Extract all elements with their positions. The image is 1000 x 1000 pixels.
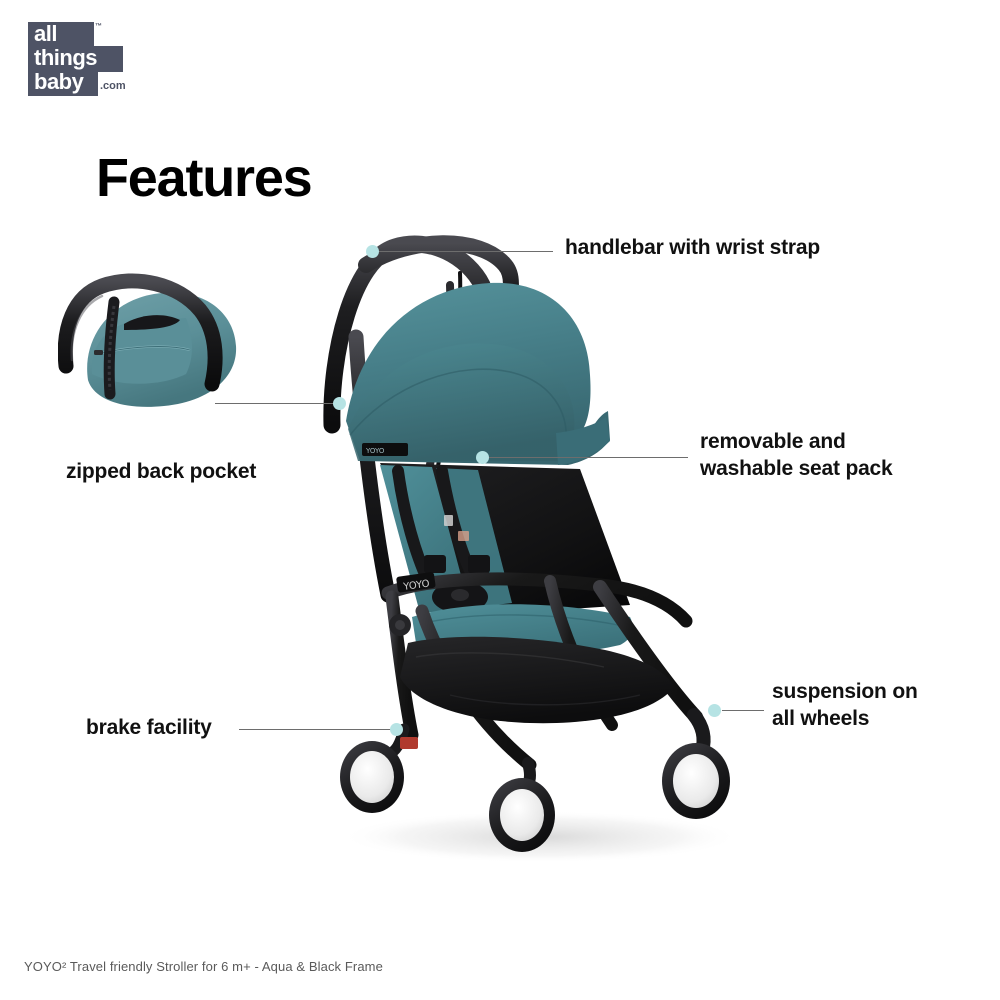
front-wheel-right-hub xyxy=(673,754,719,808)
harness-buckle-center xyxy=(451,589,469,601)
harness-adjuster-right xyxy=(468,555,490,573)
logo-domain-suffix: .com xyxy=(100,80,126,92)
canopy-brand-tag-text: YOYO xyxy=(365,447,385,455)
harness-label-icon xyxy=(444,515,453,526)
callout-label-brake-facility: brake facility xyxy=(86,714,212,741)
leader-line-pocket xyxy=(215,403,337,404)
rear-wheel-hub xyxy=(350,751,394,803)
harness-warning-icon xyxy=(458,531,469,541)
leader-line-suspension xyxy=(722,710,764,711)
callout-label-seatpack: removable and washable seat pack xyxy=(700,428,893,482)
footer-caption: YOYO² Travel friendly Stroller for 6 m+ … xyxy=(24,959,383,974)
seat-pack xyxy=(380,463,633,656)
storage-basket-body xyxy=(400,637,674,723)
harness-adjuster-left xyxy=(424,555,446,573)
marker-dot-handlebar xyxy=(366,245,379,258)
marker-dot-suspension xyxy=(708,704,721,717)
stroller-product-illustration: YOYO xyxy=(300,225,780,865)
front-wheel-right-group xyxy=(662,715,730,819)
storage-basket xyxy=(400,637,674,723)
fold-hinge-center xyxy=(395,620,405,630)
page-title: Features xyxy=(96,148,312,208)
brand-logo[interactable]: all things baby ™ .com xyxy=(28,22,140,94)
logo-line-1: all xyxy=(34,22,97,46)
front-wheel-left-group xyxy=(489,763,555,852)
canopy-hood: YOYO xyxy=(346,283,610,465)
leader-line-handlebar xyxy=(378,251,553,252)
front-wheel-left-hub xyxy=(500,789,544,841)
logo-wordmark: all things baby xyxy=(34,22,97,94)
logo-trademark-symbol: ™ xyxy=(95,23,102,30)
callout-label-handlebar: handlebar with wrist strap xyxy=(565,234,820,261)
leader-line-seatpack xyxy=(488,457,688,458)
callout-label-suspension: suspension on all wheels xyxy=(772,678,918,732)
callout-label-zipped-back-pocket: zipped back pocket xyxy=(66,458,256,485)
brake-pedal xyxy=(400,737,418,749)
logo-line-2: things xyxy=(34,46,97,70)
zipper-pull xyxy=(94,350,103,355)
marker-dot-brake xyxy=(390,723,403,736)
rear-wheel-group xyxy=(340,729,418,813)
feature-page: all things baby ™ .com Features xyxy=(0,0,1000,1000)
logo-line-3: baby xyxy=(34,70,97,94)
leader-line-brake xyxy=(239,729,396,730)
marker-dot-seatpack xyxy=(476,451,489,464)
marker-dot-pocket xyxy=(333,397,346,410)
